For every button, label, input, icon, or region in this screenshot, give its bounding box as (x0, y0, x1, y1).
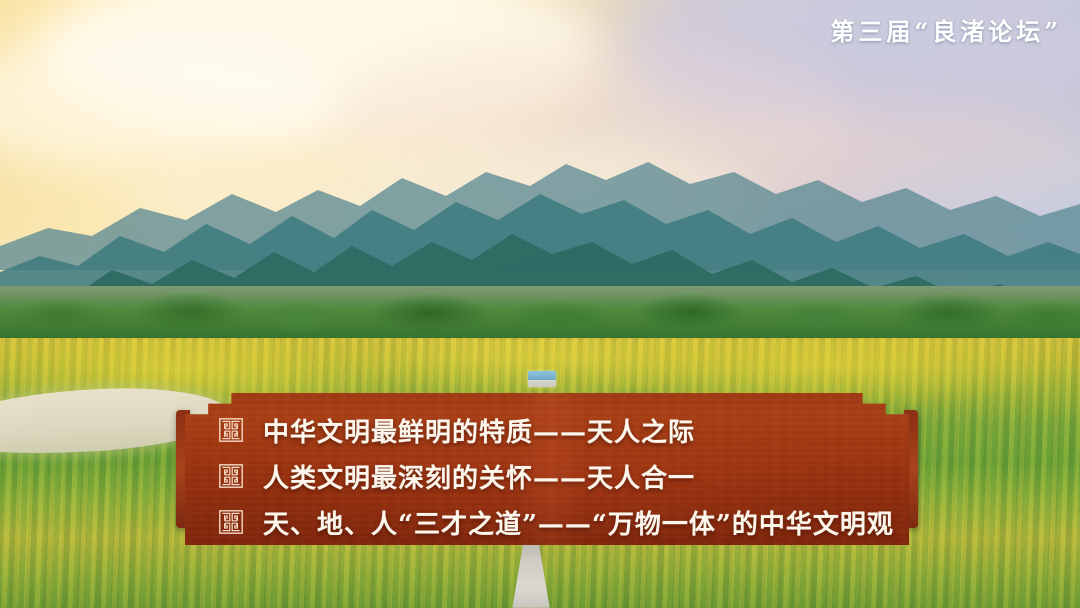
statement-banner: 中华文明最鲜明的特质——天人之际 人类文明最深刻的关怀——天人合一 (176, 390, 918, 548)
meander-pattern-icon (219, 464, 243, 488)
meander-pattern-icon (219, 418, 243, 442)
statement-text: 中华文明最鲜明的特质——天人之际 (263, 412, 695, 449)
list-item: 天、地、人“三才之道”——“万物一体”的中华文明观 (219, 503, 909, 541)
list-item: 中华文明最鲜明的特质——天人之际 (219, 411, 909, 449)
list-item: 人类文明最深刻的关怀——天人合一 (219, 457, 909, 495)
statement-text: 人类文明最深刻的关怀——天人合一 (263, 458, 695, 495)
plaque-panel: 中华文明最鲜明的特质——天人之际 人类文明最深刻的关怀——天人合一 (185, 393, 909, 545)
slide-canvas: 第三届“良渚论坛” 中华 (0, 0, 1080, 608)
blue-roof-pavilion (528, 371, 556, 387)
statement-list: 中华文明最鲜明的特质——天人之际 人类文明最深刻的关怀——天人合一 (185, 393, 909, 545)
event-title: 第三届“良渚论坛” (830, 12, 1062, 47)
meander-pattern-icon (219, 510, 243, 534)
statement-text: 天、地、人“三才之道”——“万物一体”的中华文明观 (263, 504, 894, 541)
